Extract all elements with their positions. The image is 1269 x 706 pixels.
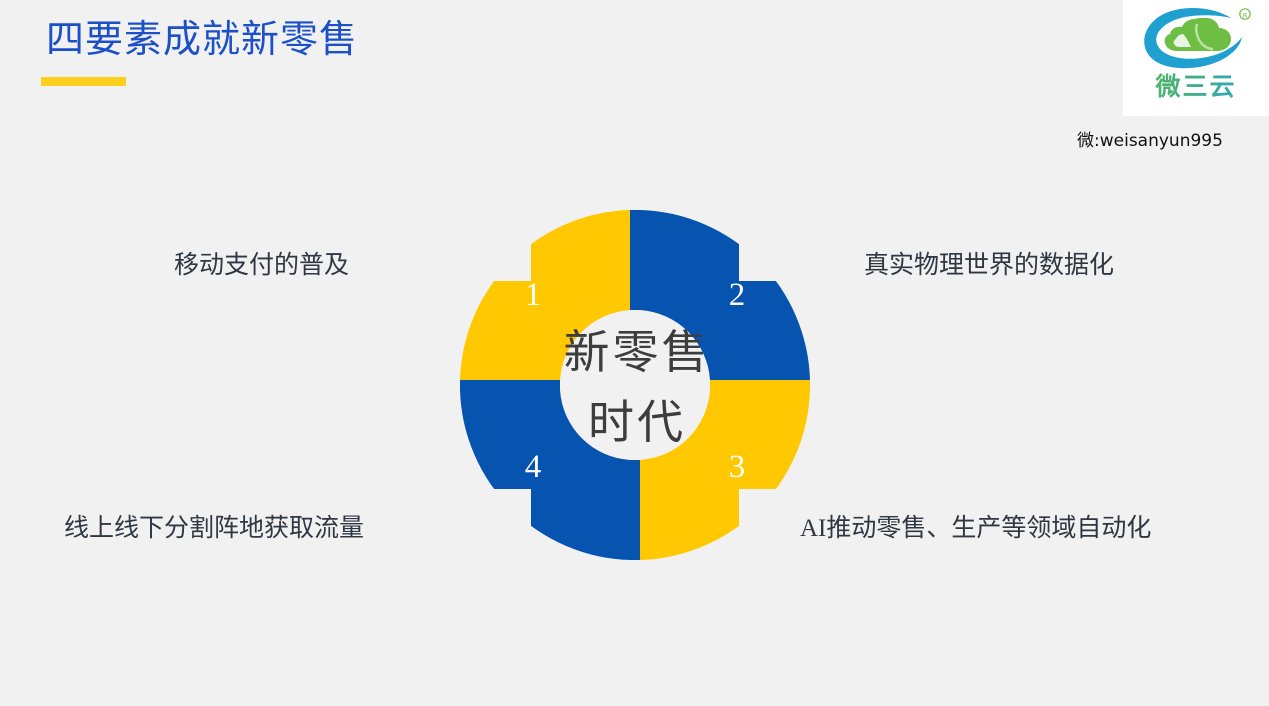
wechat-handle: 微:weisanyun995 xyxy=(1077,126,1223,151)
donut-center-label: 新零售 时代 xyxy=(564,327,711,448)
title-accent-bar xyxy=(41,77,126,86)
donut-center-line-2: 时代 xyxy=(588,397,686,448)
segment-label-2: 真实物理世界的数据化 xyxy=(864,245,1114,281)
donut-segment-1-number: 1 xyxy=(525,277,542,313)
donut-segment-3-number: 3 xyxy=(729,449,746,485)
brand-logo: R 微三云 xyxy=(1123,0,1269,116)
donut-segment-4-number: 4 xyxy=(525,449,542,485)
cycle-donut-diagram: 1 2 3 4 新零售 时代 xyxy=(455,205,815,565)
cloud-logo-icon: R xyxy=(1139,6,1253,72)
brand-wordmark: 微三云 xyxy=(1123,72,1269,102)
segment-label-1: 移动支付的普及 xyxy=(174,245,349,281)
svg-text:R: R xyxy=(1243,11,1248,19)
donut-segment-2-number: 2 xyxy=(729,277,746,313)
segment-label-4: 线上线下分割阵地获取流量 xyxy=(64,508,364,544)
donut-center-line-1: 新零售 xyxy=(564,327,711,378)
page-title: 四要素成就新零售 xyxy=(46,14,358,66)
segment-label-3: AI推动零售、生产等领域自动化 xyxy=(800,508,1151,544)
